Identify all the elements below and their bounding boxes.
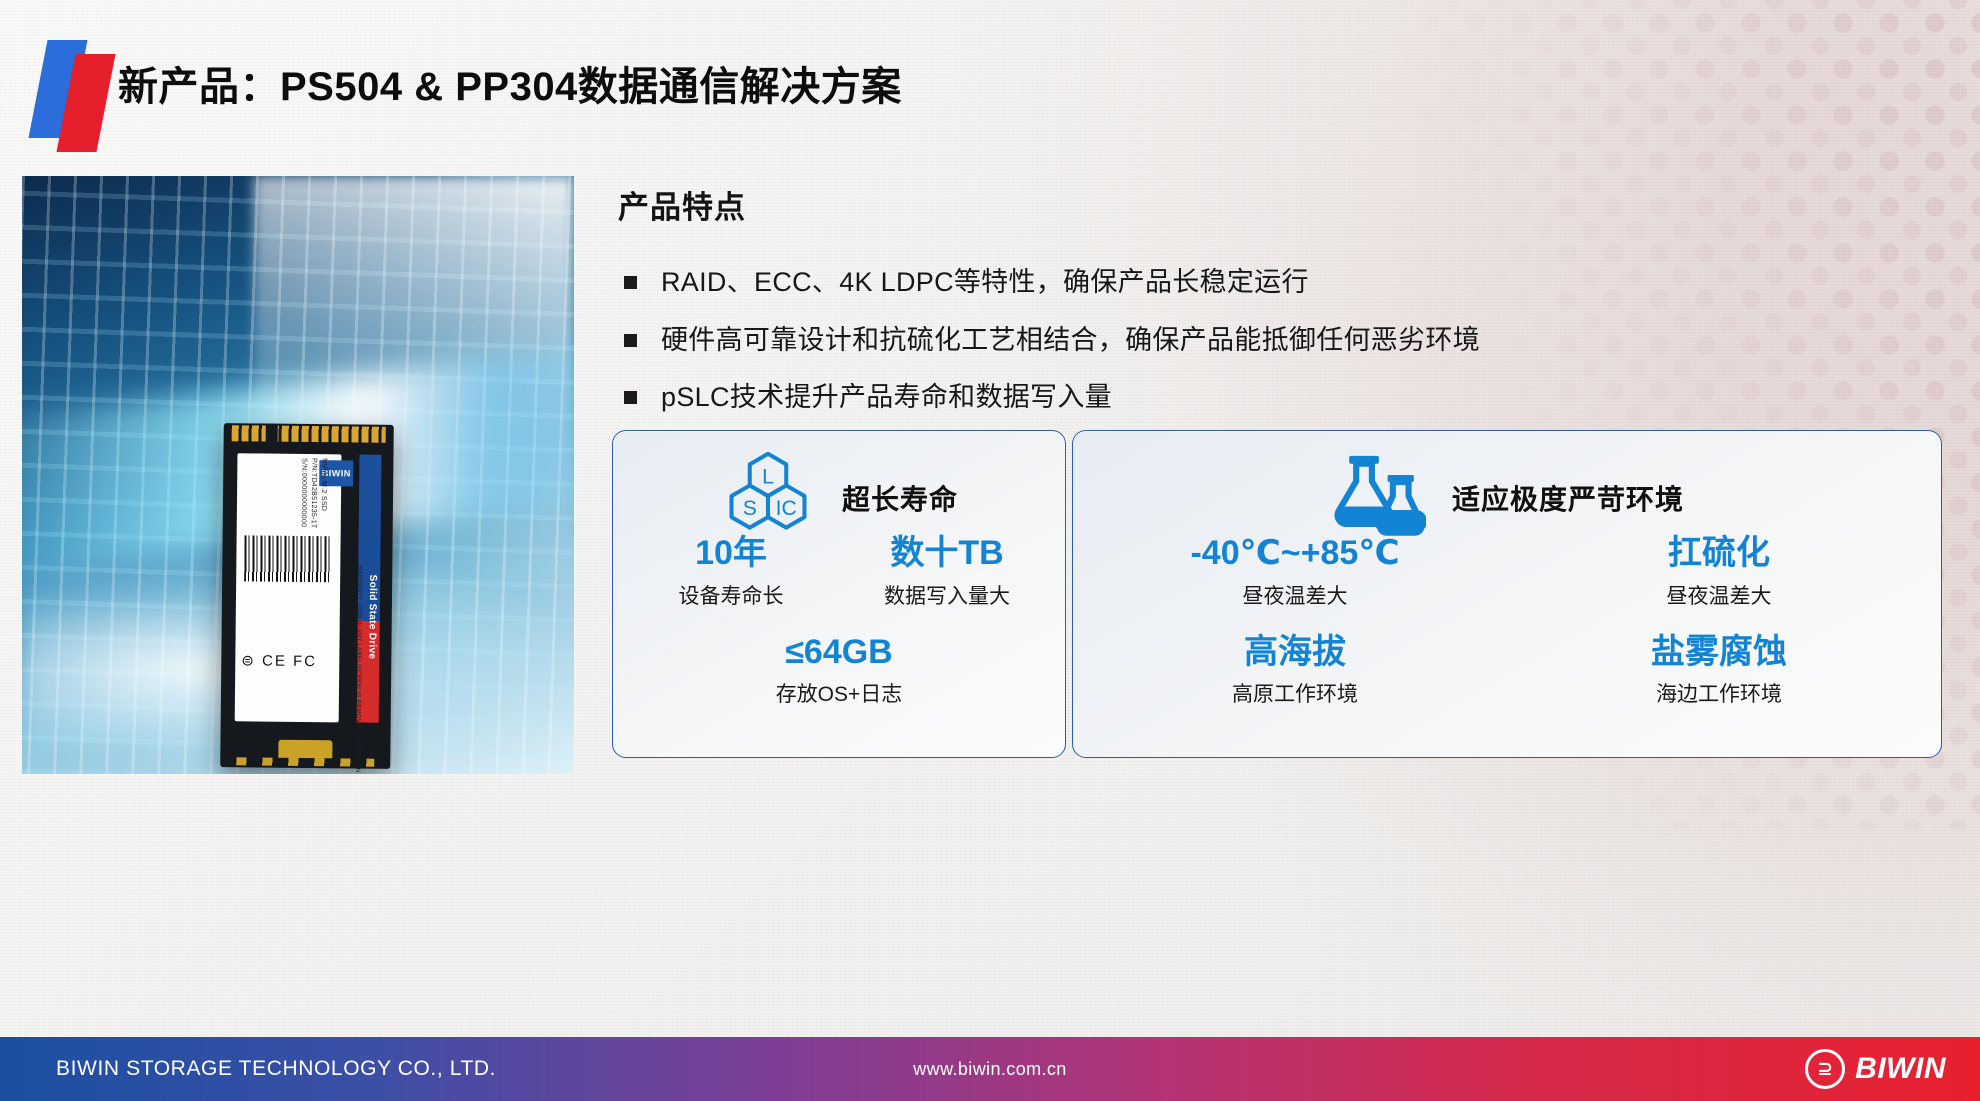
stat-caption: 设备寿命长 xyxy=(637,580,825,610)
card-header: 适应极度严苛环境 xyxy=(1073,431,1941,535)
stat-item: 盐雾腐蚀 海边工作环境 xyxy=(1507,634,1931,709)
card-harsh-environment: 适应极度严苛环境 -40℃~+85℃ 昼夜温差大 扛硫化 昼夜温差大 高海拔 高… xyxy=(1072,430,1942,758)
card-title: 适应极度严苛环境 xyxy=(1452,478,1684,518)
card-stats: -40℃~+85℃ 昼夜温差大 扛硫化 昼夜温差大 高海拔 高原工作环境 盐雾腐… xyxy=(1073,535,1941,708)
bullet-square-icon xyxy=(624,334,637,347)
bullet-square-icon xyxy=(624,391,637,404)
feature-bullet-text: RAID、ECC、4K LDPC等特性，确保产品长稳定运行 xyxy=(661,265,1309,300)
card-longevity: L S IC 超长寿命 10年 设备寿命长 数十TB 数据写入量大 ≤64GB … xyxy=(612,430,1066,758)
ssd-side-text: Solid State Drive xyxy=(366,575,378,660)
feature-bullet-1: RAID、ECC、4K LDPC等特性，确保产品长稳定运行 xyxy=(618,265,1938,300)
stat-item: ≤64GB 存放OS+日志 xyxy=(623,634,1055,709)
stat-caption: 高原工作环境 xyxy=(1097,678,1493,708)
stat-item: 高海拔 高原工作环境 xyxy=(1083,634,1507,709)
card-title: 超长寿命 xyxy=(842,478,958,518)
stat-caption: 海边工作环境 xyxy=(1521,678,1917,708)
stat-caption: 数据写入量大 xyxy=(853,580,1041,610)
stat-item: -40℃~+85℃ 昼夜温差大 xyxy=(1083,535,1507,610)
feature-bullet-3: pSLC技术提升产品寿命和数据写入量 xyxy=(618,380,1938,415)
stat-caption: 昼夜温差大 xyxy=(1097,580,1493,610)
stat-caption: 昼夜温差大 xyxy=(1521,580,1917,610)
ssd-sn-text: S/N:0000000000000 xyxy=(300,458,308,527)
stat-value: 数十TB xyxy=(853,535,1041,572)
biwin-logo-mark-icon xyxy=(34,40,124,138)
stat-value: 盐雾腐蚀 xyxy=(1521,634,1917,671)
feature-bullet-text: pSLC技术提升产品寿命和数据写入量 xyxy=(661,380,1112,415)
footer-website-link[interactable]: www.biwin.com.cn xyxy=(913,1059,1066,1080)
features-section: 产品特点 RAID、ECC、4K LDPC等特性，确保产品长稳定运行 硬件高可靠… xyxy=(618,182,1938,438)
card-header: L S IC 超长寿命 xyxy=(613,431,1065,535)
ssd-warranty-text: WARRANTY VOID IF ANY LABEL/SCREW IS REMO… xyxy=(354,565,362,773)
footer-brand-name: BIWIN xyxy=(1855,1052,1946,1086)
stat-item: 10年 设备寿命长 xyxy=(623,535,839,610)
svg-text:IC: IC xyxy=(776,497,797,520)
stat-item: 数十TB 数据写入量大 xyxy=(839,535,1055,610)
slide-footer: BIWIN STORAGE TECHNOLOGY CO., LTD. www.b… xyxy=(0,1037,1980,1101)
page-title: 新产品：PS504 & PP304数据通信解决方案 xyxy=(118,54,902,112)
stat-value: 10年 xyxy=(637,535,825,572)
bullet-square-icon xyxy=(624,276,637,289)
product-photo: BIWIN NVMe M.2 SSD P/N:TD42B51235-1T S/N… xyxy=(22,176,574,774)
ssd-module-image: BIWIN NVMe M.2 SSD P/N:TD42B51235-1T S/N… xyxy=(220,423,394,769)
ssd-barcode xyxy=(244,535,330,582)
features-heading: 产品特点 xyxy=(618,182,1938,227)
stat-caption: 存放OS+日志 xyxy=(637,678,1041,708)
slide-header: 新产品：PS504 & PP304数据通信解决方案 xyxy=(0,0,1980,160)
ssd-gold-fingers xyxy=(232,425,386,443)
ssd-bottom-contacts xyxy=(236,757,374,766)
card-stats: 10年 设备寿命长 数十TB 数据写入量大 ≤64GB 存放OS+日志 xyxy=(613,535,1065,708)
footer-brand-logo: ⊇ BIWIN xyxy=(1805,1049,1946,1089)
stat-value: -40℃~+85℃ xyxy=(1097,535,1493,572)
stat-value: ≤64GB xyxy=(637,634,1041,671)
slide-root: 新产品：PS504 & PP304数据通信解决方案 BIWIN NVMe M.2… xyxy=(0,0,1980,1101)
ssd-key-notch xyxy=(266,424,278,442)
ssd-pn-text: P/N:TD42B51235-1T xyxy=(310,458,318,529)
svg-text:L: L xyxy=(762,465,774,488)
stat-value: 扛硫化 xyxy=(1521,535,1917,572)
ssd-cert-marks: ⊜ CE FC xyxy=(241,651,332,710)
footer-company-name: BIWIN STORAGE TECHNOLOGY CO., LTD. xyxy=(56,1057,496,1081)
feature-bullet-text: 硬件高可靠设计和抗硫化工艺相结合，确保产品能抵御任何恶劣环境 xyxy=(661,323,1480,358)
ssd-model-text: NVMe M.2 SSD xyxy=(320,458,328,511)
flask-icon xyxy=(1330,452,1426,545)
svg-text:S: S xyxy=(743,497,757,520)
stat-value: 高海拔 xyxy=(1097,634,1493,671)
feature-bullet-2: 硬件高可靠设计和抗硫化工艺相结合，确保产品能抵御任何恶劣环境 xyxy=(618,323,1938,358)
stat-item: 扛硫化 昼夜温差大 xyxy=(1507,535,1931,610)
biwin-circle-icon: ⊇ xyxy=(1805,1049,1845,1089)
